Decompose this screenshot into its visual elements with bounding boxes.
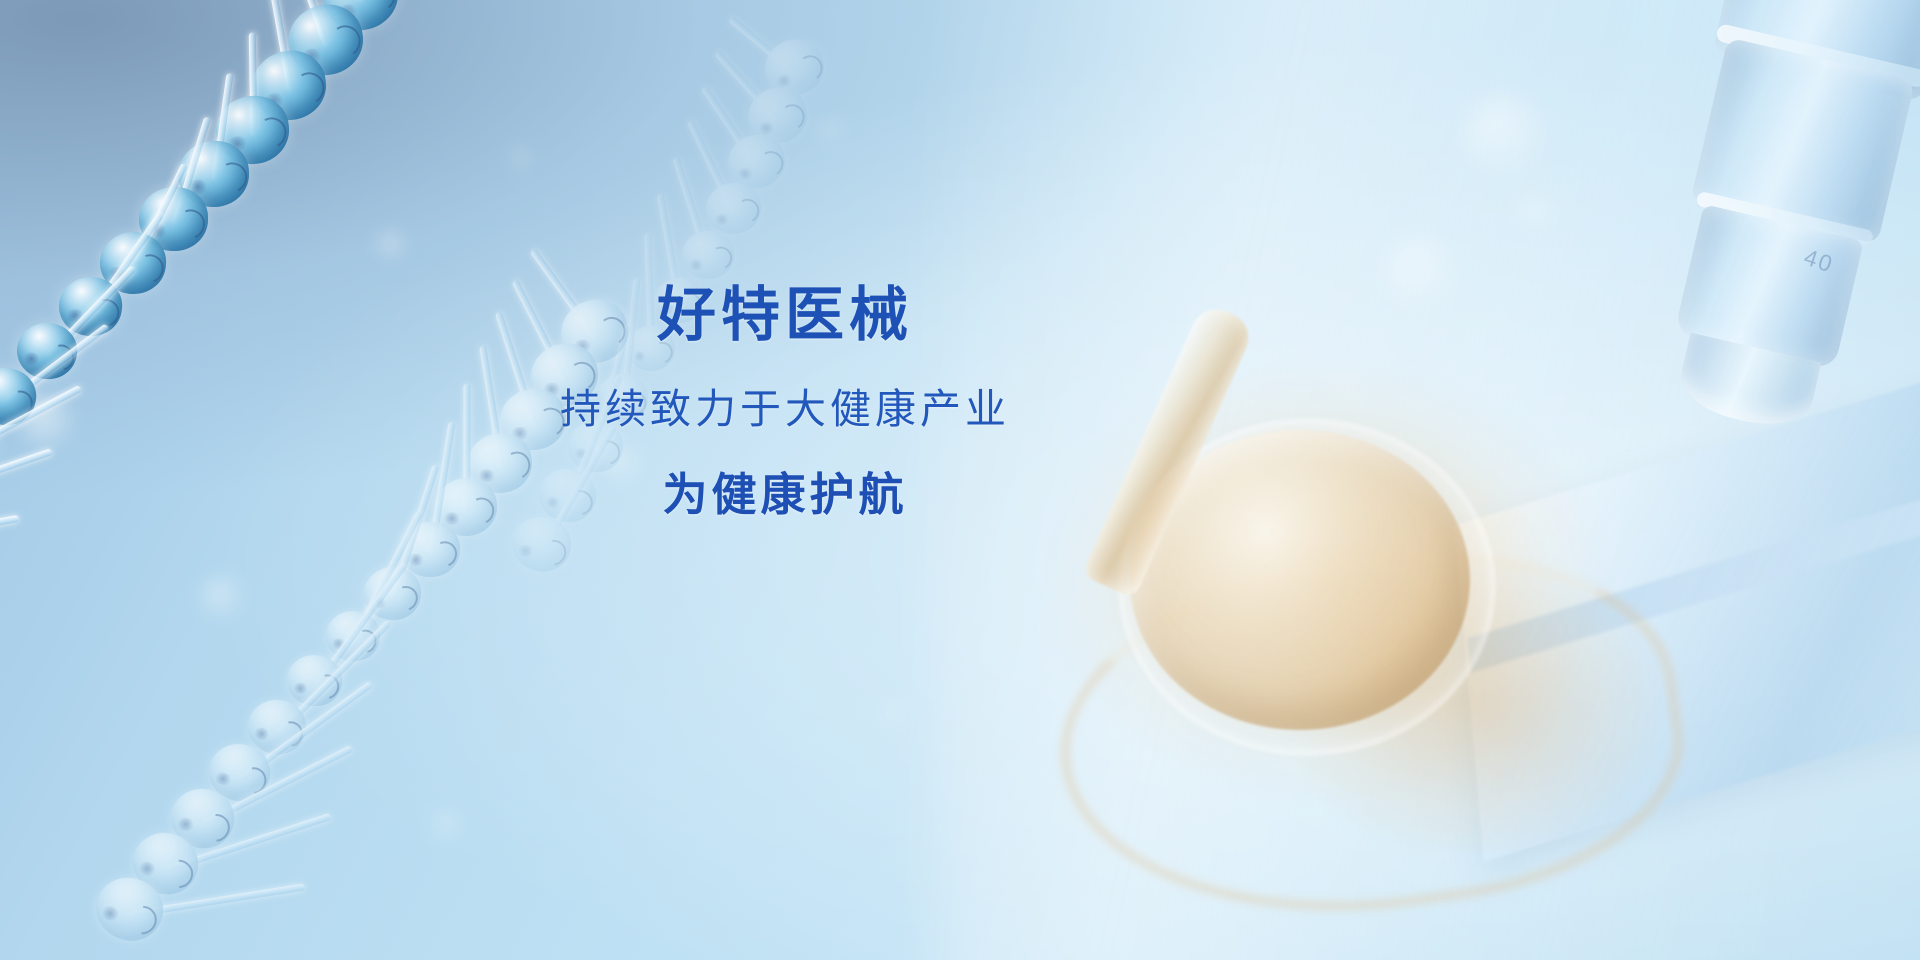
- dna-bead: [86, 866, 173, 950]
- dna-stem: [212, 73, 234, 181]
- dna-stem: [248, 32, 257, 136]
- dna-bead: [177, 140, 250, 209]
- dna-bead-highlight: [536, 534, 572, 570]
- dna-bead-shadow: [147, 223, 168, 237]
- dna-bead-shadow: [252, 726, 272, 742]
- dna-bead-highlight: [796, 53, 825, 82]
- dna-bead-highlight: [213, 159, 251, 198]
- page-slogan: 为健康护航: [662, 469, 907, 521]
- dna-bead-shadow: [688, 259, 704, 270]
- dna-bead: [243, 694, 312, 760]
- dna-bead-highlight: [327, 23, 364, 60]
- dna-stem: [202, 745, 353, 827]
- dna-bead: [724, 132, 788, 193]
- dna-stem: [351, 510, 423, 642]
- dna-bead: [399, 522, 460, 578]
- dna-bead-highlight: [273, 717, 308, 752]
- bokeh-circle: [430, 810, 464, 844]
- dna-bead: [203, 737, 277, 808]
- dna-stem: [313, 563, 407, 689]
- dna-bead-highlight: [290, 68, 327, 106]
- dna-bead-highlight: [706, 243, 735, 273]
- dna-bead-highlight: [349, 625, 381, 657]
- dna-bead: [163, 780, 242, 856]
- bokeh-circle: [200, 576, 244, 620]
- dna-bead-shadow: [225, 136, 248, 153]
- dna-bead: [139, 186, 209, 251]
- bokeh-circle: [512, 150, 530, 168]
- dna-bead-highlight: [732, 196, 762, 226]
- dna-bead-highlight: [756, 149, 786, 179]
- dna-bead-shadow: [335, 2, 361, 22]
- dna-bead-shadow: [98, 902, 122, 923]
- dna-bead-shadow: [713, 213, 730, 226]
- dna-bead-highlight: [130, 249, 168, 287]
- dna-stem: [686, 120, 737, 216]
- dna-bead-highlight: [235, 762, 272, 799]
- dna-stem: [270, 0, 294, 92]
- dna-bead-highlight: [252, 114, 290, 153]
- dna-bead: [283, 651, 346, 711]
- bokeh-circle: [880, 700, 908, 728]
- dna-bead: [704, 181, 763, 237]
- dna-bead: [124, 823, 207, 904]
- dna-bead-shadow: [299, 47, 324, 66]
- dna-bead-highlight: [427, 537, 461, 571]
- dna-bead: [213, 93, 292, 167]
- dna-bead: [743, 83, 811, 148]
- dna-bead-shadow: [736, 167, 755, 181]
- dna-bead: [362, 565, 422, 621]
- dna-stem: [276, 620, 391, 735]
- dna-bead-shadow: [106, 266, 127, 281]
- dna-bead-shadow: [213, 771, 234, 788]
- dna-bead-shadow: [516, 542, 536, 558]
- hero-banner: 40 好特医械 持续致力于大健康产业 为健康护航: [0, 0, 1920, 960]
- dna-bead: [760, 34, 831, 102]
- page-subtitle: 持续致力于大健康产业: [560, 386, 1010, 433]
- dna-bead-highlight: [389, 581, 422, 614]
- headline-block: 好特医械 持续致力于大健康产业 为健康护航: [0, 283, 1570, 521]
- dna-bead: [282, 0, 369, 82]
- dna-stem: [131, 163, 188, 270]
- page-title: 好特医械: [657, 283, 913, 348]
- dna-bead-highlight: [172, 204, 210, 242]
- dna-bead-shadow: [135, 859, 158, 879]
- dna-stem: [172, 117, 211, 226]
- dna-bead-highlight: [159, 854, 198, 893]
- dna-bead-highlight: [197, 808, 235, 846]
- dna-bead-shadow: [292, 682, 310, 696]
- dna-bead: [248, 46, 331, 125]
- dna-stem: [239, 681, 373, 781]
- dna-stem: [700, 85, 760, 170]
- dna-bead-highlight: [777, 101, 807, 131]
- dna-bead: [323, 608, 382, 664]
- dna-bead-shadow: [774, 73, 794, 89]
- bokeh-circle: [820, 120, 842, 142]
- dna-stem: [728, 15, 799, 76]
- dna-stem: [316, 0, 365, 3]
- dna-bead-shadow: [369, 596, 387, 609]
- dna-bead-highlight: [122, 900, 162, 940]
- dna-stem: [672, 156, 712, 261]
- dna-bead-shadow: [262, 92, 286, 110]
- dna-bead-shadow: [187, 180, 209, 195]
- dna-bead: [316, 0, 406, 38]
- dna-bead-shadow: [174, 815, 196, 833]
- dna-stem: [130, 883, 306, 918]
- dna-bead-highlight: [363, 0, 398, 13]
- dna-bead: [681, 230, 734, 280]
- dna-bead-shadow: [331, 637, 348, 650]
- dna-stem: [714, 50, 781, 123]
- dna-bead-shadow: [407, 554, 425, 566]
- dna-bead-highlight: [311, 671, 344, 704]
- dna-bead-shadow: [756, 120, 776, 135]
- bokeh-circle: [378, 232, 404, 258]
- dna-stem: [293, 0, 331, 48]
- dna-stem: [165, 813, 330, 873]
